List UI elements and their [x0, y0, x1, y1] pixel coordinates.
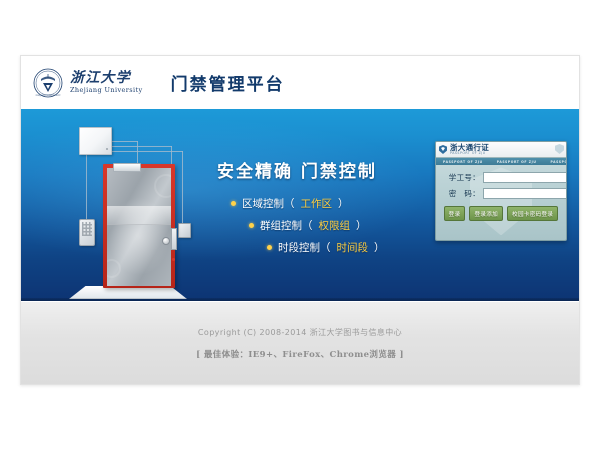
- university-logo[interactable]: ZHEJIANG UNIVERSITY 浙江大学 Zhejiang Univer…: [33, 68, 143, 98]
- feature-label: 群组控制（: [260, 218, 313, 233]
- feature-tail: ）: [356, 218, 367, 233]
- page-container: ZHEJIANG UNIVERSITY 浙江大学 Zhejiang Univer…: [20, 55, 580, 385]
- site-header: ZHEJIANG UNIVERSITY 浙江大学 Zhejiang Univer…: [21, 56, 579, 109]
- campus-card-password-login-button[interactable]: 校园卡密码登录: [507, 206, 558, 221]
- bullet-dot-icon: [231, 201, 236, 206]
- strip-text: PASSPORT OF ZJU: [544, 160, 567, 164]
- feature-item-group-control: 群组控制（权限组）: [249, 218, 417, 233]
- login-button-row: 登录 登录添加 校园卡密码登录: [442, 206, 560, 221]
- password-label: 密 码：: [442, 188, 483, 199]
- login-form: 学工号： 密 码： 登录 登录添加 校园卡密码登录: [436, 165, 566, 241]
- gear-motif-icon: [154, 174, 171, 198]
- feature-item-time-control: 时段控制（时间段）: [267, 240, 417, 255]
- wire-segment: [86, 153, 87, 219]
- banner-headline: 安全精确 门禁控制: [217, 157, 417, 182]
- strip-text: PASSPORT OF ZJU: [436, 160, 490, 164]
- wire-segment: [110, 146, 172, 147]
- wire-segment: [182, 151, 183, 224]
- controller-box-icon: [79, 127, 112, 155]
- student-id-input[interactable]: [483, 172, 567, 183]
- status-led-indicator: [172, 258, 175, 261]
- login-panel-titlebar: 浙大通行证 PASSPORT OF ZJU: [436, 142, 566, 158]
- student-id-label: 学工号：: [442, 172, 483, 183]
- login-button[interactable]: 登录: [444, 206, 466, 221]
- copyright-text: Copyright (C) 2008-2014 浙江大学图书与信息中心: [198, 327, 402, 338]
- shield-icon: [439, 145, 447, 154]
- gear-motif-icon: [107, 259, 121, 278]
- feature-tail: ）: [374, 240, 385, 255]
- bullet-dot-icon: [267, 245, 272, 250]
- door-leaf: [107, 168, 171, 286]
- feature-item-area-control: 区域控制（工作区）: [231, 196, 417, 211]
- feature-tail: ）: [338, 196, 349, 211]
- login-add-button[interactable]: 登录添加: [469, 206, 503, 221]
- login-panel-title: 浙大通行证: [450, 144, 489, 152]
- password-row: 密 码：: [442, 188, 560, 199]
- bullet-dot-icon: [249, 223, 254, 228]
- door-strike-plate: [171, 228, 177, 250]
- page-title: 门禁管理平台: [171, 70, 285, 95]
- password-input[interactable]: [483, 188, 567, 199]
- wire-segment: [110, 151, 183, 152]
- card-reader-icon: [178, 223, 191, 238]
- site-footer: Copyright (C) 2008-2014 浙江大学图书与信息中心 [ 最佳…: [21, 301, 579, 385]
- access-control-door-illustration: [55, 127, 195, 299]
- wire-segment: [110, 141, 138, 142]
- university-wordmark: 浙江大学 Zhejiang University: [70, 71, 143, 95]
- banner-copy: 安全精确 门禁控制 区域控制（工作区） 群组控制（权限组） 时段控制（时间段）: [217, 157, 417, 262]
- hero-banner: 安全精确 门禁控制 区域控制（工作区） 群组控制（权限组） 时段控制（时间段）: [21, 109, 579, 301]
- svg-text:ZHEJIANG UNIVERSITY: ZHEJIANG UNIVERSITY: [35, 95, 61, 97]
- feature-label: 时段控制（: [278, 240, 331, 255]
- browser-support-text: [ 最佳体验：IE9+、FireFox、Chrome浏览器 ]: [196, 348, 404, 360]
- feature-highlight: 时间段: [337, 240, 369, 255]
- feature-label: 区域控制（: [242, 196, 295, 211]
- shield-watermark-icon: [555, 144, 564, 154]
- zju-seal-icon: ZHEJIANG UNIVERSITY: [33, 68, 63, 98]
- door-band: [107, 206, 171, 225]
- university-name-cn: 浙江大学: [70, 71, 143, 85]
- university-name-en: Zhejiang University: [70, 87, 143, 94]
- door-frame: [103, 164, 175, 288]
- feature-highlight: 工作区: [301, 196, 333, 211]
- door-closer-icon: [113, 163, 141, 172]
- feature-list: 区域控制（工作区） 群组控制（权限组） 时段控制（时间段）: [217, 196, 417, 255]
- keypad-reader-icon: [79, 219, 95, 246]
- login-panel-subtitle: PASSPORT OF ZJU: [450, 152, 489, 155]
- feature-highlight: 权限组: [319, 218, 351, 233]
- strip-text: PASSPORT OF ZJU: [490, 160, 544, 164]
- student-id-row: 学工号：: [442, 172, 560, 183]
- login-panel: 浙大通行证 PASSPORT OF ZJU PASSPORT OF ZJU PA…: [435, 141, 567, 241]
- passport-strip: PASSPORT OF ZJU PASSPORT OF ZJU PASSPORT…: [436, 158, 566, 165]
